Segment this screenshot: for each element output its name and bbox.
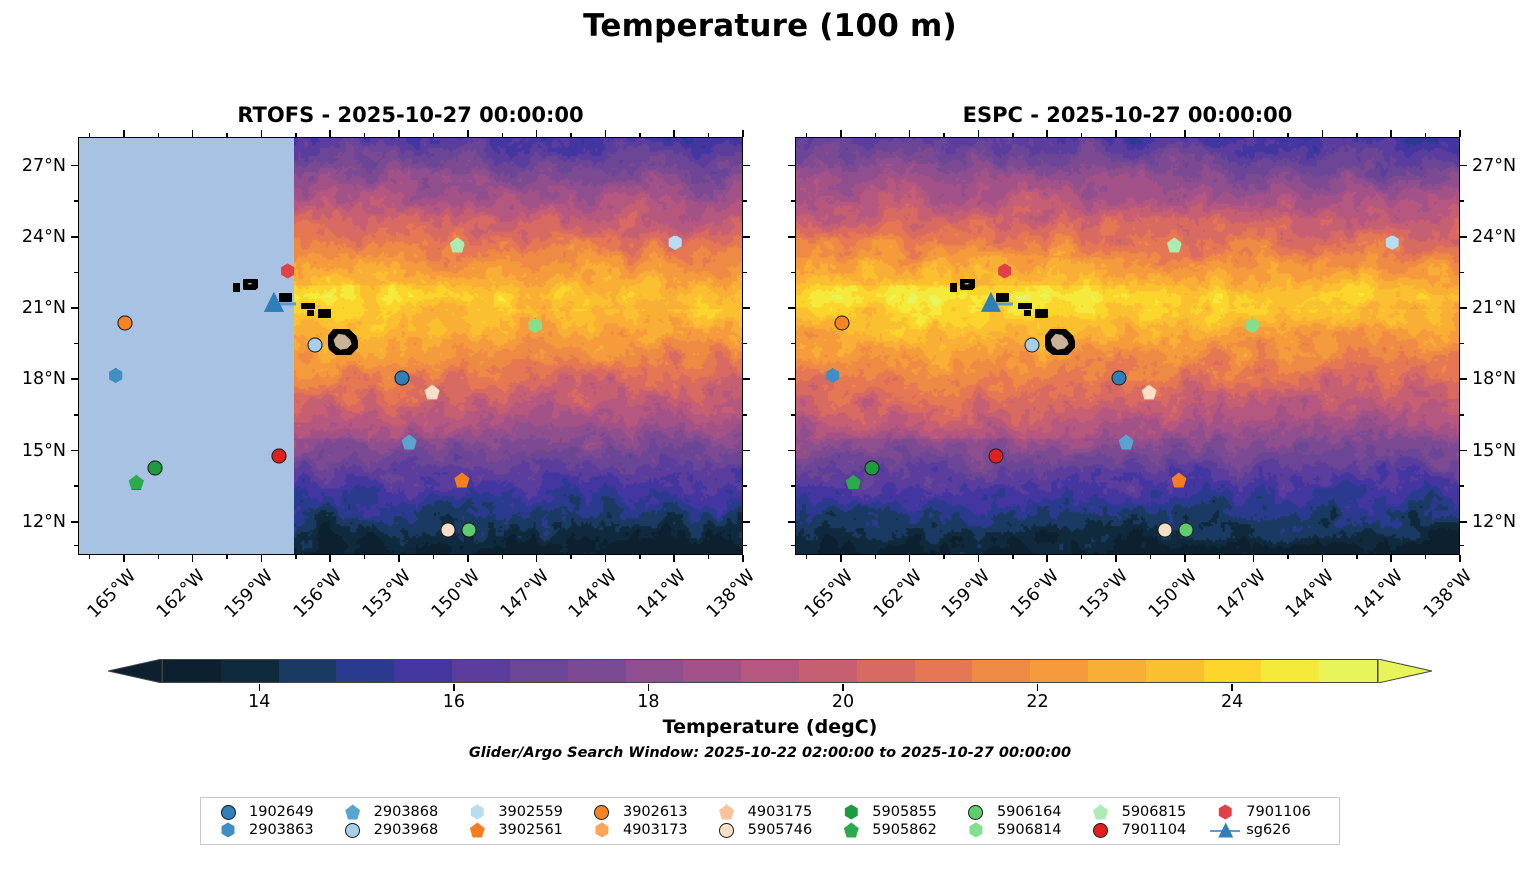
ytick-minor xyxy=(791,272,795,273)
colorbar-tick xyxy=(259,684,260,691)
legend-marker-2903968[interactable] xyxy=(334,821,372,839)
ytick-label: 12°N xyxy=(1472,512,1516,532)
xtick-minor xyxy=(1150,555,1151,559)
ytick-label: 27°N xyxy=(0,156,66,176)
xtick-minor xyxy=(570,133,571,137)
ytick-minor xyxy=(1460,200,1464,201)
ytick-minor xyxy=(791,200,795,201)
xtick-top-espc xyxy=(1459,130,1461,137)
xtick-top-espc xyxy=(1046,130,1048,137)
xtick-espc xyxy=(1253,555,1255,562)
xtick-espc xyxy=(978,555,980,562)
map-marker-5905746[interactable] xyxy=(425,385,440,400)
map-panel-rtofs[interactable] xyxy=(78,137,743,555)
legend-label-2903863: 2903863 xyxy=(247,821,334,839)
map-marker-5906164[interactable] xyxy=(1178,522,1193,537)
legend-label-5905746: 5905746 xyxy=(746,821,833,839)
xtick-top-rtofs xyxy=(742,130,744,137)
xtick-minor xyxy=(639,133,640,137)
xtick-espc xyxy=(1322,555,1324,562)
ytick-right-rtofs xyxy=(743,521,750,523)
legend-marker-7901106[interactable] xyxy=(1206,803,1244,821)
xtick-minor xyxy=(502,133,503,137)
no-data-mask xyxy=(79,138,294,554)
panel-title-espc: ESPC - 2025-10-27 00:00:00 xyxy=(795,103,1460,127)
xtick-top-rtofs xyxy=(467,130,469,137)
legend-label-2903968: 2903968 xyxy=(372,821,459,839)
xtick-espc xyxy=(840,555,842,562)
map-marker-2903968[interactable] xyxy=(1025,337,1040,352)
xtick-top-rtofs xyxy=(398,130,400,137)
xtick-minor xyxy=(639,555,640,559)
ytick-minor xyxy=(1460,272,1464,273)
xtick-minor xyxy=(1219,133,1220,137)
map-marker-7901104[interactable] xyxy=(988,449,1003,464)
temperature-field xyxy=(796,138,1459,554)
colorbar-tick xyxy=(1037,684,1038,691)
xtick-minor xyxy=(1287,555,1288,559)
ytick-rtofs xyxy=(71,378,78,380)
hex-icon xyxy=(844,805,859,820)
island-hawaii xyxy=(1045,329,1075,355)
xtick-minor xyxy=(158,133,159,137)
island-molokai xyxy=(301,303,315,309)
xtick-minor xyxy=(226,133,227,137)
ytick-right-rtofs xyxy=(743,165,750,167)
ytick-minor xyxy=(74,545,78,546)
colorbar-tick-label: 24 xyxy=(1221,692,1243,712)
map-marker-5906164[interactable] xyxy=(461,522,476,537)
colorbar-tick-label: 20 xyxy=(832,692,854,712)
ytick-minor xyxy=(1460,343,1464,344)
legend-marker-sg626[interactable] xyxy=(1206,821,1244,839)
xtick-rtofs xyxy=(467,555,469,562)
map-marker-3902561[interactable] xyxy=(1171,473,1186,488)
xtick-minor xyxy=(806,133,807,137)
map-marker-5905746b[interactable] xyxy=(441,522,456,537)
circ-icon xyxy=(594,805,609,820)
ytick-minor xyxy=(743,485,747,486)
island-maui xyxy=(1035,309,1048,318)
xtick-minor xyxy=(708,555,709,559)
xtick-top-espc xyxy=(840,130,842,137)
colorbar-band-20 xyxy=(1319,660,1377,682)
ytick-right-espc xyxy=(1460,165,1467,167)
map-panel-espc[interactable] xyxy=(795,137,1460,555)
legend-marker-7901104[interactable] xyxy=(1082,821,1120,839)
legend-marker-3902559[interactable] xyxy=(458,803,496,821)
island-niihau xyxy=(950,283,957,292)
map-marker-3902561[interactable] xyxy=(454,473,469,488)
legend-label-3902613: 3902613 xyxy=(621,803,708,821)
xtick-top-rtofs xyxy=(673,130,675,137)
legend-label-5906164: 5906164 xyxy=(995,803,1082,821)
xtick-minor xyxy=(1287,133,1288,137)
panel-title-rtofs: RTOFS - 2025-10-27 00:00:00 xyxy=(78,103,743,127)
circ-icon xyxy=(1093,823,1108,838)
ytick-label: 18°N xyxy=(0,369,66,389)
map-marker-3902559[interactable] xyxy=(1385,235,1400,250)
ytick-espc xyxy=(788,165,795,167)
ytick-label: 15°N xyxy=(0,441,66,461)
legend-label-4903175: 4903175 xyxy=(746,803,833,821)
circ-icon xyxy=(345,823,360,838)
ytick-minor xyxy=(743,343,747,344)
xtick-espc xyxy=(1390,555,1392,562)
ytick-right-espc xyxy=(1460,378,1467,380)
xtick-label: 147°W xyxy=(1210,566,1269,625)
map-marker-5905746b[interactable] xyxy=(1158,522,1173,537)
ytick-minor xyxy=(791,343,795,344)
hex-icon xyxy=(470,805,485,820)
pent-icon xyxy=(345,805,360,820)
ytick-minor xyxy=(74,485,78,486)
map-marker-5905746[interactable] xyxy=(1142,385,1157,400)
legend-label-3902561: 3902561 xyxy=(496,821,583,839)
xtick-minor xyxy=(226,555,227,559)
xtick-espc xyxy=(1046,555,1048,562)
map-marker-7901106[interactable] xyxy=(997,264,1012,279)
colorbar-band-0 xyxy=(163,660,221,682)
map-marker-5905855[interactable] xyxy=(147,461,162,476)
colorbar-tick xyxy=(1231,684,1232,691)
map-marker-sg626[interactable] xyxy=(981,292,1001,312)
xtick-top-espc xyxy=(1322,130,1324,137)
xtick-rtofs xyxy=(398,555,400,562)
map-marker-3902559[interactable] xyxy=(668,235,683,250)
xtick-label: 156°W xyxy=(287,566,346,625)
xtick-minor xyxy=(295,555,296,559)
xtick-minor xyxy=(1012,133,1013,137)
map-marker-2903863[interactable] xyxy=(108,368,123,383)
xtick-label: 144°W xyxy=(1279,566,1338,625)
xtick-minor xyxy=(1356,133,1357,137)
ytick-minor xyxy=(791,545,795,546)
legend-label-5906814: 5906814 xyxy=(995,821,1082,839)
colorbar-tick-label: 22 xyxy=(1026,692,1048,712)
ytick-espc xyxy=(788,521,795,523)
xtick-top-rtofs xyxy=(329,130,331,137)
legend-marker-4903173[interactable] xyxy=(583,821,621,839)
xtick-minor xyxy=(433,133,434,137)
ytick-label: 24°N xyxy=(1472,227,1516,247)
xtick-minor xyxy=(364,133,365,137)
xtick-top-espc xyxy=(1390,130,1392,137)
colorbar-band-7 xyxy=(568,660,626,682)
ytick-minor xyxy=(791,414,795,415)
xtick-minor xyxy=(1012,555,1013,559)
colorbar-tick-label: 14 xyxy=(248,692,270,712)
colorbar-band-3 xyxy=(336,660,394,682)
legend-label-4903173: 4903173 xyxy=(621,821,708,839)
xtick-top-espc xyxy=(1253,130,1255,137)
ytick-rtofs xyxy=(71,236,78,238)
ytick-minor xyxy=(1460,414,1464,415)
ytick-right-espc xyxy=(1460,236,1467,238)
xtick-label: 165°W xyxy=(798,566,857,625)
map-marker-5906814[interactable] xyxy=(528,318,543,333)
legend-marker-5906815[interactable] xyxy=(1082,803,1120,821)
ytick-right-rtofs xyxy=(743,236,750,238)
xtick-minor xyxy=(1081,555,1082,559)
map-marker-1902649[interactable] xyxy=(395,370,410,385)
pent-icon xyxy=(470,823,485,838)
ytick-label: 24°N xyxy=(0,227,66,247)
xtick-label: 141°W xyxy=(631,566,690,625)
legend-marker-4903175[interactable] xyxy=(708,803,746,821)
xtick-label: 141°W xyxy=(1348,566,1407,625)
xtick-top-rtofs xyxy=(123,130,125,137)
hex-icon xyxy=(1218,805,1233,820)
legend-marker-3902561[interactable] xyxy=(458,821,496,839)
colorbar-tick xyxy=(842,684,843,691)
xtick-top-espc xyxy=(978,130,980,137)
ytick-label: 21°N xyxy=(0,298,66,318)
island-niihau xyxy=(233,283,240,292)
colorbar-band-9 xyxy=(683,660,741,682)
colorbar-band-12 xyxy=(857,660,915,682)
search-window-text: Glider/Argo Search Window: 2025-10-22 02… xyxy=(0,745,1540,761)
hex-icon xyxy=(594,823,609,838)
ytick-minor xyxy=(74,343,78,344)
colorbar-band-2 xyxy=(279,660,337,682)
ytick-label: 15°N xyxy=(1472,441,1516,461)
map-marker-5906815[interactable] xyxy=(1167,237,1182,252)
xtick-rtofs xyxy=(261,555,263,562)
xtick-minor xyxy=(806,555,807,559)
island-kauai xyxy=(243,279,258,290)
map-marker-5905862[interactable] xyxy=(129,475,144,490)
map-marker-5905855[interactable] xyxy=(864,461,879,476)
island-hawaii xyxy=(328,329,358,355)
colorbar-band-5 xyxy=(452,660,510,682)
glider-track-icon xyxy=(1210,823,1240,838)
ytick-minor xyxy=(74,200,78,201)
ytick-espc xyxy=(788,307,795,309)
xtick-espc xyxy=(1115,555,1117,562)
island-maui xyxy=(318,309,331,318)
ytick-minor xyxy=(743,272,747,273)
island-molokai xyxy=(1018,303,1032,309)
xtick-minor xyxy=(1356,555,1357,559)
xtick-label: 156°W xyxy=(1004,566,1063,625)
map-marker-5905862[interactable] xyxy=(846,475,861,490)
map-marker-7901104[interactable] xyxy=(271,449,286,464)
page-title: Temperature (100 m) xyxy=(0,8,1540,44)
map-marker-2903868[interactable] xyxy=(402,435,417,450)
legend-marker-1902649[interactable] xyxy=(209,803,247,821)
xtick-rtofs xyxy=(673,555,675,562)
hex-icon xyxy=(968,823,983,838)
ytick-rtofs xyxy=(71,521,78,523)
colorbar-tick-label: 16 xyxy=(443,692,465,712)
xtick-minor xyxy=(1219,555,1220,559)
legend-label-5905855: 5905855 xyxy=(870,803,957,821)
xtick-label: 153°W xyxy=(356,566,415,625)
legend-marker-5906814[interactable] xyxy=(957,821,995,839)
xtick-minor xyxy=(364,555,365,559)
ytick-espc xyxy=(788,378,795,380)
island-lanai xyxy=(1024,310,1031,316)
colorbar-band-15 xyxy=(1030,660,1088,682)
xtick-minor xyxy=(943,133,944,137)
ytick-minor xyxy=(74,272,78,273)
colorbar-band-17 xyxy=(1146,660,1204,682)
xtick-rtofs xyxy=(742,555,744,562)
xtick-minor xyxy=(875,133,876,137)
circ-icon xyxy=(719,823,734,838)
legend-marker-5905855[interactable] xyxy=(832,803,870,821)
colorbar-tick xyxy=(648,684,649,691)
xtick-label: 138°W xyxy=(1417,566,1476,625)
ytick-label: 21°N xyxy=(1472,298,1516,318)
legend-row: 1902649290386839025593902613490317559058… xyxy=(209,803,1331,821)
colorbar-extend-low xyxy=(108,659,162,683)
ytick-right-rtofs xyxy=(743,450,750,452)
xtick-minor xyxy=(433,555,434,559)
ytick-label: 18°N xyxy=(1472,369,1516,389)
xtick-espc xyxy=(909,555,911,562)
pent-icon xyxy=(1093,805,1108,820)
pent-icon xyxy=(844,823,859,838)
legend-label-7901106: 7901106 xyxy=(1244,803,1331,821)
legend-label-sg626: sg626 xyxy=(1244,821,1331,839)
island-kauai xyxy=(960,279,975,290)
colorbar-band-10 xyxy=(741,660,799,682)
map-marker-3902613[interactable] xyxy=(834,316,849,331)
colorbar-band-13 xyxy=(915,660,973,682)
xtick-top-espc xyxy=(1115,130,1117,137)
colorbar[interactable] xyxy=(162,659,1378,683)
xtick-top-rtofs xyxy=(536,130,538,137)
xtick-label: 162°W xyxy=(149,566,208,625)
ytick-rtofs xyxy=(71,307,78,309)
xtick-top-espc xyxy=(1184,130,1186,137)
colorbar-extend-high xyxy=(1378,659,1432,683)
xtick-minor xyxy=(1081,133,1082,137)
legend-label-2903868: 2903868 xyxy=(372,803,459,821)
ytick-label: 27°N xyxy=(1472,156,1516,176)
xtick-label: 138°W xyxy=(700,566,759,625)
xtick-label: 165°W xyxy=(81,566,140,625)
ytick-right-espc xyxy=(1460,450,1467,452)
legend-marker-5905862[interactable] xyxy=(832,821,870,839)
xtick-minor xyxy=(158,555,159,559)
hex-icon xyxy=(221,823,236,838)
ytick-minor xyxy=(791,485,795,486)
xtick-rtofs xyxy=(536,555,538,562)
map-marker-2903868[interactable] xyxy=(1119,435,1134,450)
legend-marker-2903863[interactable] xyxy=(209,821,247,839)
legend-marker-2903868[interactable] xyxy=(334,803,372,821)
ytick-minor xyxy=(743,200,747,201)
xtick-top-espc xyxy=(909,130,911,137)
map-marker-2903968[interactable] xyxy=(308,337,323,352)
map-marker-7901106[interactable] xyxy=(280,264,295,279)
xtick-label: 159°W xyxy=(935,566,994,625)
xtick-minor xyxy=(295,133,296,137)
legend-marker-5905746[interactable] xyxy=(708,821,746,839)
xtick-top-rtofs xyxy=(192,130,194,137)
pent-icon xyxy=(719,805,734,820)
xtick-minor xyxy=(1150,133,1151,137)
island-lanai xyxy=(307,310,314,316)
map-marker-3902613[interactable] xyxy=(117,316,132,331)
xtick-top-rtofs xyxy=(261,130,263,137)
triangle-icon xyxy=(1218,823,1233,838)
ytick-minor xyxy=(743,545,747,546)
ytick-right-rtofs xyxy=(743,378,750,380)
colorbar-band-11 xyxy=(799,660,857,682)
xtick-label: 150°W xyxy=(1142,566,1201,625)
map-marker-2903863[interactable] xyxy=(825,368,840,383)
ytick-label: 12°N xyxy=(0,512,66,532)
ytick-minor xyxy=(743,414,747,415)
xtick-label: 144°W xyxy=(562,566,621,625)
xtick-label: 150°W xyxy=(425,566,484,625)
map-marker-5906815[interactable] xyxy=(450,237,465,252)
xtick-rtofs xyxy=(329,555,331,562)
ytick-minor xyxy=(74,414,78,415)
xtick-label: 147°W xyxy=(493,566,552,625)
ytick-right-espc xyxy=(1460,307,1467,309)
legend-label-5906815: 5906815 xyxy=(1120,803,1207,821)
circ-icon xyxy=(968,805,983,820)
map-marker-1902649[interactable] xyxy=(1112,370,1127,385)
xtick-top-rtofs xyxy=(605,130,607,137)
xtick-minor xyxy=(502,555,503,559)
map-marker-sg626[interactable] xyxy=(264,292,284,312)
colorbar-band-19 xyxy=(1261,660,1319,682)
colorbar-band-6 xyxy=(510,660,568,682)
colorbar-label: Temperature (degC) xyxy=(0,716,1540,738)
ytick-minor xyxy=(1460,545,1464,546)
map-marker-5906814[interactable] xyxy=(1245,318,1260,333)
ytick-minor xyxy=(1460,485,1464,486)
xtick-espc xyxy=(1184,555,1186,562)
legend-label-7901104: 7901104 xyxy=(1120,821,1207,839)
ytick-rtofs xyxy=(71,165,78,167)
legend[interactable]: 1902649290386839025593902613490317559058… xyxy=(200,797,1340,845)
circ-icon xyxy=(221,805,236,820)
colorbar-tick xyxy=(453,684,454,691)
ytick-right-rtofs xyxy=(743,307,750,309)
colorbar-band-8 xyxy=(626,660,684,682)
ytick-rtofs xyxy=(71,450,78,452)
ytick-espc xyxy=(788,450,795,452)
xtick-rtofs xyxy=(192,555,194,562)
legend-marker-5906164[interactable] xyxy=(957,803,995,821)
xtick-minor xyxy=(1425,555,1426,559)
figure-canvas: Temperature (100 m) RTOFS - 2025-10-27 0… xyxy=(0,0,1540,889)
xtick-minor xyxy=(89,133,90,137)
colorbar-tick-label: 18 xyxy=(637,692,659,712)
colorbar-band-16 xyxy=(1088,660,1146,682)
legend-label-3902559: 3902559 xyxy=(496,803,583,821)
xtick-espc xyxy=(1459,555,1461,562)
xtick-minor xyxy=(943,555,944,559)
legend-label-1902649: 1902649 xyxy=(247,803,334,821)
xtick-label: 162°W xyxy=(866,566,925,625)
xtick-minor xyxy=(1425,133,1426,137)
xtick-minor xyxy=(708,133,709,137)
ytick-right-espc xyxy=(1460,521,1467,523)
colorbar-band-14 xyxy=(972,660,1030,682)
xtick-rtofs xyxy=(123,555,125,562)
xtick-minor xyxy=(570,555,571,559)
legend-marker-3902613[interactable] xyxy=(583,803,621,821)
xtick-minor xyxy=(875,555,876,559)
